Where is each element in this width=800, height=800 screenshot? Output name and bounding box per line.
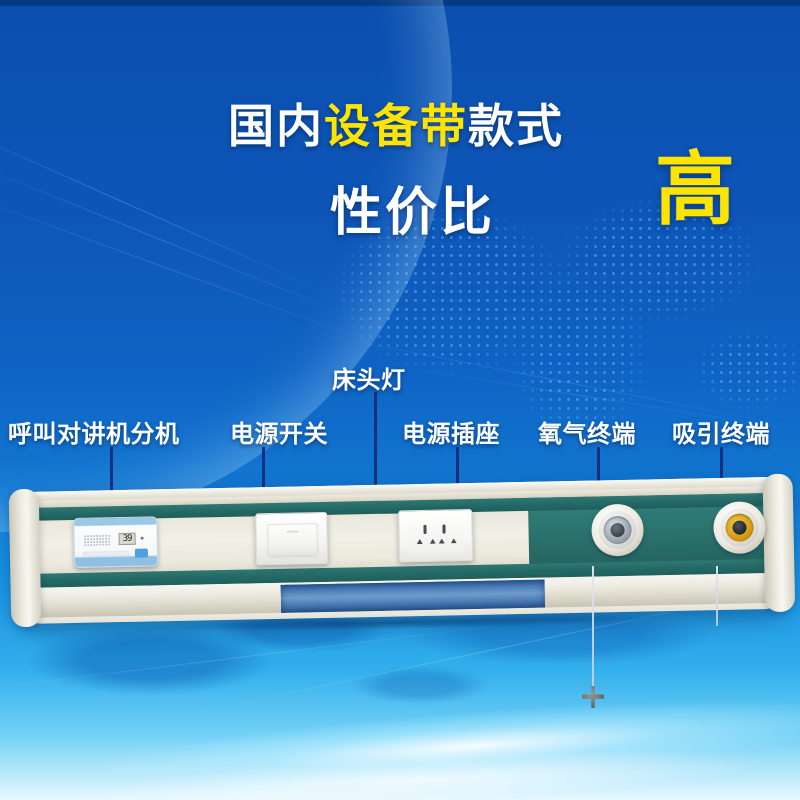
intercom-display: 39: [119, 533, 136, 545]
nurse-call-intercom[interactable]: 39: [73, 516, 158, 568]
power-socket[interactable]: [398, 509, 473, 562]
panel-end-cap-left: [9, 489, 42, 628]
socket-slot-icon: [442, 525, 445, 534]
speaker-grille-icon: [84, 534, 110, 546]
headline-line-2: 性价比: [330, 170, 495, 245]
callout-label-suction: 吸引终端: [672, 414, 770, 449]
headline-part-2: 款式: [468, 100, 564, 152]
socket-pin-icon: [430, 539, 436, 544]
socket-pin-icon: [417, 539, 423, 544]
medical-equipment-panel: 39: [23, 477, 781, 624]
panel-end-cap-right: [762, 474, 795, 613]
switch-rocker-key[interactable]: [267, 523, 318, 556]
oxygen-hanger-cord: [592, 566, 594, 691]
socket-pin-icon: [451, 538, 457, 543]
socket-slot-icon: [423, 525, 426, 534]
headline-big-word: 高: [655, 150, 735, 230]
intercom-call-button[interactable]: [135, 549, 148, 558]
poster-canvas: 国内设备带款式 性价比 高 呼叫对讲机分机 电源开关 床头灯 电源插座 氧气终端…: [0, 0, 800, 800]
switch-indicator-mark: [287, 530, 299, 532]
callout-label-switch: 电源开关: [230, 414, 328, 449]
headline-part-0: 国内: [228, 100, 324, 152]
callout-label-bed-lamp: 床头灯: [332, 360, 406, 395]
power-switch[interactable]: [255, 512, 328, 565]
callout-label-socket: 电源插座: [402, 414, 500, 449]
status-led-icon: [141, 537, 144, 540]
headline-part-1-highlight: 设备带: [324, 100, 468, 152]
socket-pin-icon: [439, 539, 445, 544]
socket-face: [409, 520, 464, 553]
intercom-label-strip: [83, 551, 129, 557]
equipment-panel-region: 39: [0, 470, 800, 670]
bed-lamp-diffuser[interactable]: [281, 580, 546, 613]
suction-hanger-cord: [716, 566, 718, 626]
callout-label-intercom: 呼叫对讲机分机: [8, 414, 180, 449]
callout-label-oxygen: 氧气终端: [538, 414, 636, 449]
